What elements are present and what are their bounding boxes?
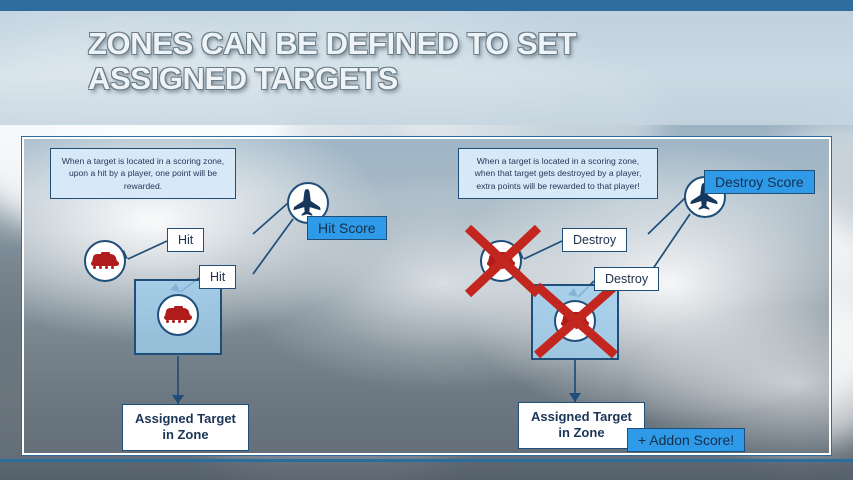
bottom-band: [0, 462, 853, 480]
page-title-line-2: ASSIGNED TARGETS: [88, 62, 788, 97]
right-scenario-caption: When a target is located in a scoring zo…: [458, 148, 658, 199]
tank-target-icon: [560, 311, 590, 331]
tank-target-icon: [163, 305, 193, 325]
jet-fighter-icon: [292, 187, 324, 219]
left-scenario-caption: When a target is located in a scoring zo…: [50, 148, 236, 199]
left-hit-label-1: Hit: [167, 228, 204, 252]
right-assigned-target-label: Assigned Target in Zone: [518, 402, 645, 449]
page-title-line-1: ZONES CAN BE DEFINED TO SET: [88, 27, 788, 62]
left-assigned-target-line-1: Assigned Target: [135, 411, 236, 427]
slide-root: ZONES CAN BE DEFINED TO SET ASSIGNED TAR…: [0, 0, 853, 480]
left-hit-label-2: Hit: [199, 265, 236, 289]
right-assigned-target-line-1: Assigned Target: [531, 409, 632, 425]
tank-target-icon: [90, 251, 120, 271]
right-destroy-label-1: Destroy: [562, 228, 627, 252]
right-assigned-target-line-2: in Zone: [531, 425, 632, 441]
right-destroy-label-2: Destroy: [594, 267, 659, 291]
addon-score-badge: + Addon Score!: [627, 428, 745, 452]
right-target-in-zone-icon: [554, 300, 596, 342]
left-assigned-target-line-2: in Zone: [135, 427, 236, 443]
top-accent-band: [0, 0, 853, 11]
left-target-free-icon: [84, 240, 126, 282]
destroy-score-badge: Destroy Score: [704, 170, 815, 194]
right-target-free-icon: [480, 240, 522, 282]
left-assigned-target-label: Assigned Target in Zone: [122, 404, 249, 451]
page-title: ZONES CAN BE DEFINED TO SET ASSIGNED TAR…: [88, 27, 788, 96]
hit-score-badge: Hit Score: [307, 216, 387, 240]
left-target-in-zone-icon: [157, 294, 199, 336]
tank-target-icon: [486, 251, 516, 271]
